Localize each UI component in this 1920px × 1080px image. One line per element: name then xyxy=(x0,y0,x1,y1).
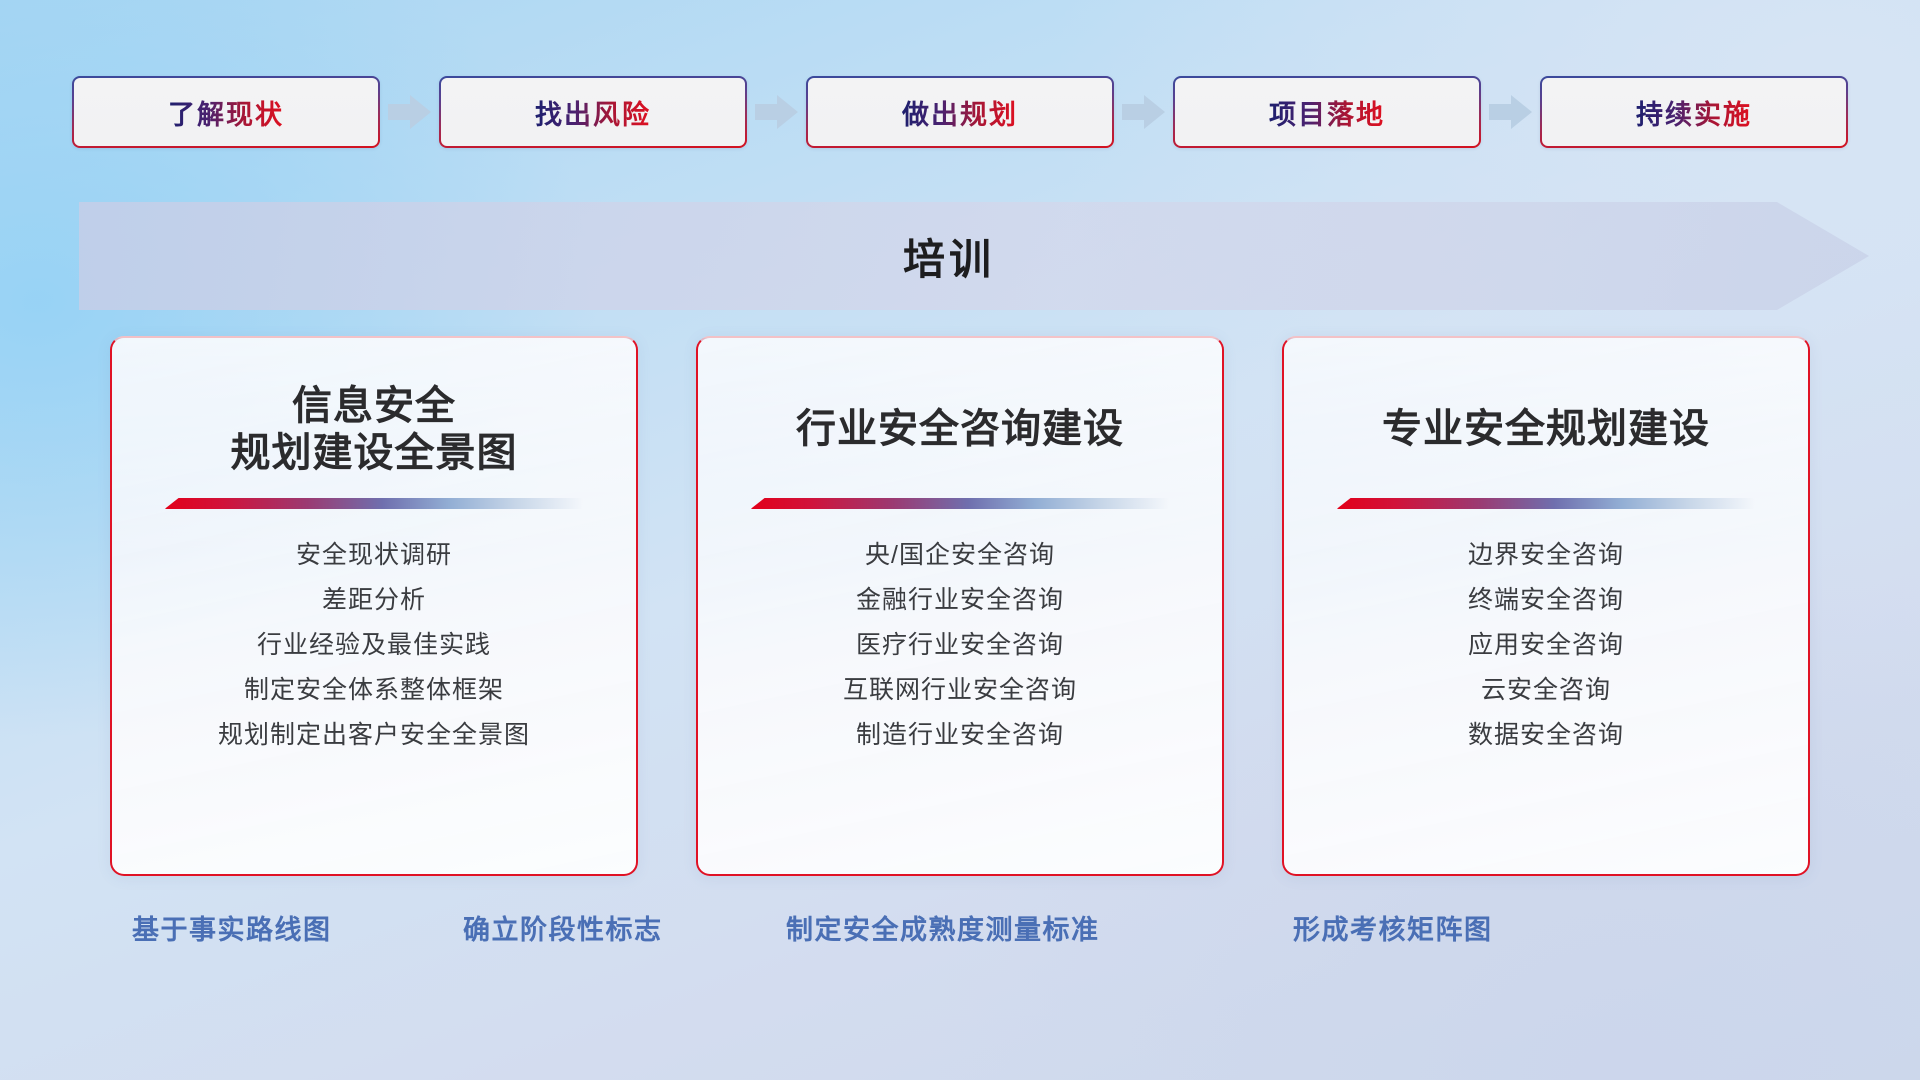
list-item: 应用安全咨询 xyxy=(1308,623,1784,668)
card-title-line: 行业安全咨询建设 xyxy=(796,406,1124,453)
list-item: 金融行业安全咨询 xyxy=(722,578,1198,623)
step-pill-1[interactable]: 了解现状 xyxy=(72,76,380,148)
list-item: 差距分析 xyxy=(136,578,612,623)
card-title: 信息安全 规划建设全景图 xyxy=(231,382,518,478)
card-title: 专业安全规划建设 xyxy=(1382,382,1710,478)
card-industry-security-consulting[interactable]: 行业安全咨询建设 央/国企安全咨询 金融行业安全咨询 医疗行业安全咨询 互联网行… xyxy=(696,336,1224,876)
list-item: 云安全咨询 xyxy=(1308,668,1784,713)
step-label: 找出风险 xyxy=(535,93,651,132)
list-item: 制造行业安全咨询 xyxy=(722,713,1198,758)
caption-maturity-standard: 制定安全成熟度测量标准 xyxy=(786,908,1100,947)
list-item: 安全现状调研 xyxy=(136,533,612,578)
step-connector-arrow-3 xyxy=(1114,92,1173,132)
step-label: 做出规划 xyxy=(902,93,1018,132)
card-title-line: 专业安全规划建设 xyxy=(1382,406,1710,453)
card-title-line: 规划建设全景图 xyxy=(231,430,518,477)
step-connector-arrow-2 xyxy=(747,92,806,132)
list-item: 边界安全咨询 xyxy=(1308,533,1784,578)
list-item: 终端安全咨询 xyxy=(1308,578,1784,623)
card-accent-divider xyxy=(1337,498,1756,509)
step-label: 项目落地 xyxy=(1269,93,1385,132)
step-pill-3[interactable]: 做出规划 xyxy=(806,76,1114,148)
list-item: 互联网行业安全咨询 xyxy=(722,668,1198,713)
card-title-line: 信息安全 xyxy=(231,383,518,430)
step-pill-4[interactable]: 项目落地 xyxy=(1173,76,1481,148)
step-connector-arrow-4 xyxy=(1481,92,1540,132)
list-item: 行业经验及最佳实践 xyxy=(136,623,612,668)
card-professional-security-planning[interactable]: 专业安全规划建设 边界安全咨询 终端安全咨询 应用安全咨询 云安全咨询 数据安全… xyxy=(1282,336,1810,876)
list-item: 央/国企安全咨询 xyxy=(722,533,1198,578)
step-pill-2[interactable]: 找出风险 xyxy=(439,76,747,148)
caption-row: 基于事实路线图 确立阶段性标志 制定安全成熟度测量标准 形成考核矩阵图 xyxy=(0,908,1920,964)
step-label: 了解现状 xyxy=(168,93,284,132)
step-pill-5[interactable]: 持续实施 xyxy=(1540,76,1848,148)
card-item-list: 央/国企安全咨询 金融行业安全咨询 医疗行业安全咨询 互联网行业安全咨询 制造行… xyxy=(722,533,1198,758)
card-accent-divider xyxy=(165,498,584,509)
card-title: 行业安全咨询建设 xyxy=(796,382,1124,478)
process-step-bar: 了解现状 找出风险 做出规划 项目落地 xyxy=(72,74,1848,150)
caption-roadmap: 基于事实路线图 xyxy=(132,908,332,947)
caption-milestones: 确立阶段性标志 xyxy=(463,908,663,947)
list-item: 数据安全咨询 xyxy=(1308,713,1784,758)
slide-canvas: 了解现状 找出风险 做出规划 项目落地 xyxy=(0,0,1920,1080)
card-item-list: 安全现状调研 差距分析 行业经验及最佳实践 制定安全体系整体框架 规划制定出客户… xyxy=(136,533,612,758)
training-banner: 培训 xyxy=(79,202,1869,310)
caption-assessment-matrix: 形成考核矩阵图 xyxy=(1293,908,1493,947)
card-information-security-blueprint[interactable]: 信息安全 规划建设全景图 安全现状调研 差距分析 行业经验及最佳实践 制定安全体… xyxy=(110,336,638,876)
banner-title: 培训 xyxy=(79,202,1869,310)
list-item: 医疗行业安全咨询 xyxy=(722,623,1198,668)
card-group: 信息安全 规划建设全景图 安全现状调研 差距分析 行业经验及最佳实践 制定安全体… xyxy=(110,336,1810,876)
step-connector-arrow-1 xyxy=(380,92,439,132)
step-label: 持续实施 xyxy=(1636,93,1752,132)
list-item: 制定安全体系整体框架 xyxy=(136,668,612,713)
card-accent-divider xyxy=(751,498,1170,509)
card-item-list: 边界安全咨询 终端安全咨询 应用安全咨询 云安全咨询 数据安全咨询 xyxy=(1308,533,1784,758)
list-item: 规划制定出客户安全全景图 xyxy=(136,713,612,758)
